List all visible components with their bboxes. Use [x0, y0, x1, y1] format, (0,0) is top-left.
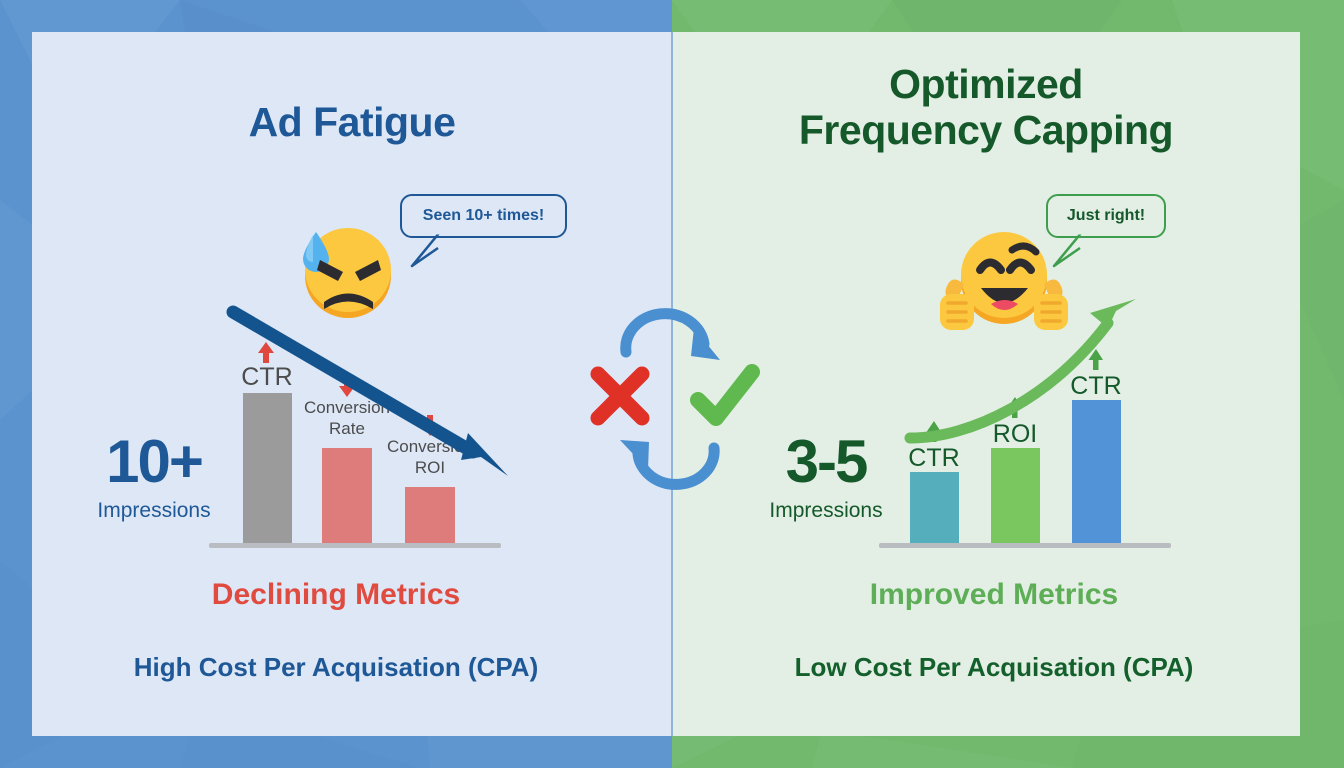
right-panel-title: Optimized Frequency Capping	[672, 62, 1300, 154]
blue-circular-arrow-bottom-icon	[620, 440, 714, 484]
right-bar-roi	[991, 448, 1040, 543]
left-bar-conversion-roi	[405, 487, 455, 543]
right-speech-bubble: Just right!	[1046, 194, 1166, 238]
left-cpa-caption: High Cost Per Acquisation (CPA)	[32, 652, 640, 683]
right-metrics-caption: Improved Metrics	[680, 578, 1308, 612]
left-declining-trend-arrow	[225, 300, 515, 490]
right-panel-title-line1: Optimized	[672, 62, 1300, 108]
right-bar-ctr-1	[910, 472, 959, 543]
right-panel-title-line2: Frequency Capping	[672, 108, 1300, 154]
green-check-icon	[698, 372, 752, 418]
left-chart-baseline	[209, 543, 501, 548]
center-transition-cluster	[586, 312, 766, 488]
left-speech-bubble: Seen 10+ times!	[400, 194, 567, 238]
left-panel-title: Ad Fatigue	[32, 100, 672, 146]
red-x-icon	[598, 374, 642, 418]
left-metrics-caption: Declining Metrics	[32, 578, 640, 612]
right-cpa-caption: Low Cost Per Acquisation (CPA)	[680, 652, 1308, 683]
blue-circular-arrow-top-icon	[626, 314, 720, 360]
infographic-canvas: Ad Fatigue Seen 10+ times! 10+ Impressio…	[0, 0, 1344, 768]
right-rising-trend-arrow	[900, 295, 1150, 455]
right-chart-baseline	[879, 543, 1171, 548]
